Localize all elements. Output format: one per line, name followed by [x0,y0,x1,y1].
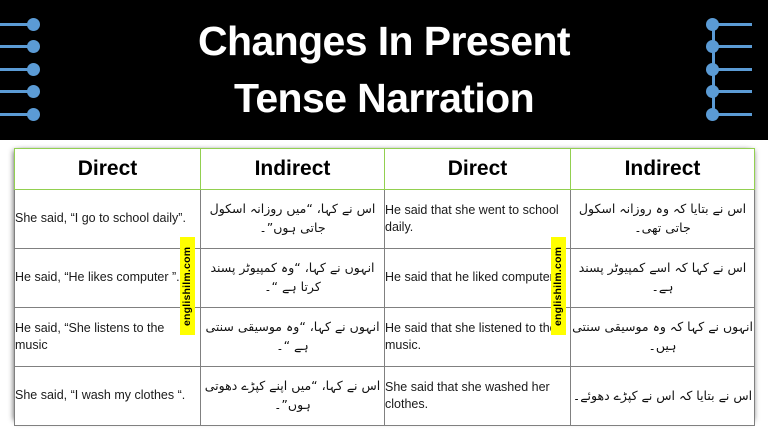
cell-indirect-urdu: اس نے کہا، “میں روزانہ اسکول جاتی ہوں”۔ [201,190,385,249]
bullet-line-icon [706,14,768,36]
table-row: She said, “I wash my clothes “. اس نے کہ… [15,367,755,426]
line-segment-icon [718,90,752,93]
cell-direct-english: He said, “He likes computer ”. [15,249,201,308]
cell-direct-english-2: She said that she washed her clothes. [385,367,571,426]
watermark-right: englishilm.com [551,237,566,335]
title-banner: Changes In Present Tense Narration [0,0,768,140]
line-segment-icon [0,45,30,48]
bullet-line-icon [706,59,768,81]
line-segment-icon [0,23,30,26]
cell-direct-english: She said, “I go to school daily”. [15,190,201,249]
table-row: She said, “I go to school daily”. اس نے … [15,190,755,249]
narration-table: Direct Indirect Direct Indirect She said… [14,148,755,426]
bullet-line-icon [0,36,64,58]
cell-indirect-urdu: اس نے کہا، “میں اپنے کپڑے دھوتی ہوں”۔ [201,367,385,426]
circle-dot-icon [27,18,40,31]
line-segment-icon [0,68,30,71]
bullet-line-icon [0,81,64,103]
bullet-line-icon [0,14,64,36]
bullet-line-icon [706,104,768,126]
cell-indirect-urdu: انہوں نے کہا، “وہ موسیقی سنتی ہے “۔ [201,308,385,367]
title-line-1: Changes In Present [198,13,570,70]
cell-direct-english: She said, “I wash my clothes “. [15,367,201,426]
bullet-line-icon [0,59,64,81]
cell-indirect-urdu-2: اس نے بتایا کہ اس نے کپڑے دھوئے۔ [571,367,755,426]
page-title: Changes In Present Tense Narration [90,8,678,132]
bullet-line-icon [0,104,64,126]
decoration-left-bullet-lines [0,14,64,126]
circle-dot-icon [27,108,40,121]
column-header-indirect-1: Indirect [201,149,385,190]
column-header-indirect-2: Indirect [571,149,755,190]
circle-dot-icon [27,63,40,76]
line-segment-icon [718,23,752,26]
table-row: He said, “She listens to the music انہوں… [15,308,755,367]
title-line-2: Tense Narration [234,70,534,127]
line-segment-icon [718,68,752,71]
slide-root: Changes In Present Tense Narration Direc… [0,0,768,432]
line-segment-icon [0,90,30,93]
cell-direct-english-2: He said that he liked computer. [385,249,571,308]
narration-table-container: Direct Indirect Direct Indirect She said… [14,148,754,422]
bullet-line-icon [706,81,768,103]
line-segment-icon [0,113,30,116]
decoration-right-bullet-lines [706,14,768,126]
column-header-direct-1: Direct [15,149,201,190]
cell-indirect-urdu: انہوں نے کہا، “وہ کمپیوٹر پسند کرتا ہے “… [201,249,385,308]
line-segment-icon [718,113,752,116]
cell-indirect-urdu-2: انہوں نے کہا کہ وہ موسیقی سنتی ہیں۔ [571,308,755,367]
table-row: He said, “He likes computer ”. انہوں نے … [15,249,755,308]
line-segment-icon [718,45,752,48]
cell-indirect-urdu-2: اس نے بتایا کہ وہ روزانہ اسکول جاتی تھی۔ [571,190,755,249]
table-header-row: Direct Indirect Direct Indirect [15,149,755,190]
cell-indirect-urdu-2: اس نے کہا کہ اسے کمپیوٹر پسند ہے۔ [571,249,755,308]
circle-dot-icon [27,85,40,98]
cell-direct-english: He said, “She listens to the music [15,308,201,367]
column-header-direct-2: Direct [385,149,571,190]
circle-dot-icon [27,40,40,53]
watermark-left: englishilm.com [180,237,195,335]
cell-direct-english-2: He said that she went to school daily. [385,190,571,249]
cell-direct-english-2: He said that she listened to the music. [385,308,571,367]
bullet-line-icon [706,36,768,58]
